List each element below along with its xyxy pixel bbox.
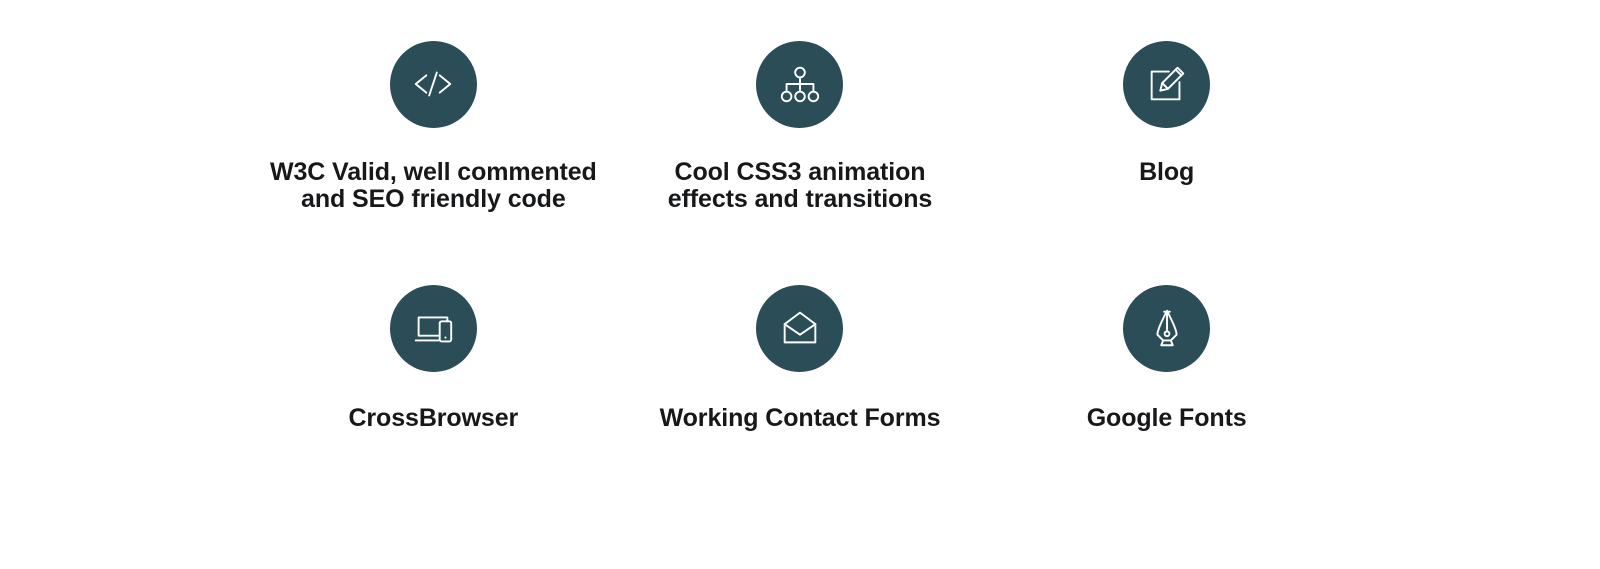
- responsive-devices-icon-badge[interactable]: [390, 285, 477, 372]
- edit-pencil-square-icon: [1144, 61, 1190, 107]
- feature-title: W3C Valid, well commented and SEO friend…: [268, 159, 598, 214]
- feature-card-blog[interactable]: Blog: [983, 41, 1350, 285]
- feature-card-crossbrowser[interactable]: CrossBrowser: [250, 285, 617, 529]
- feature-title: Google Fonts: [1087, 405, 1247, 433]
- feature-card-contact-forms[interactable]: Working Contact Forms: [617, 285, 984, 529]
- feature-card-w3c-valid[interactable]: W3C Valid, well commented and SEO friend…: [250, 41, 617, 285]
- feature-title: Cool CSS3 animation effects and transiti…: [635, 159, 965, 214]
- features-section: W3C Valid, well commented and SEO friend…: [0, 0, 1600, 569]
- feature-title: CrossBrowser: [348, 405, 518, 433]
- feature-card-css3-animation[interactable]: Cool CSS3 animation effects and transiti…: [617, 41, 984, 285]
- code-brackets-icon-badge[interactable]: [390, 41, 477, 128]
- open-envelope-icon-badge[interactable]: [756, 285, 843, 372]
- feature-title: Blog: [1139, 159, 1194, 187]
- feature-card-google-fonts[interactable]: Google Fonts: [983, 285, 1350, 529]
- features-grid: W3C Valid, well commented and SEO friend…: [250, 41, 1350, 529]
- responsive-devices-icon: [410, 305, 456, 351]
- code-brackets-icon: [410, 61, 456, 107]
- sitemap-hierarchy-icon-badge[interactable]: [756, 41, 843, 128]
- pen-nib-icon-badge[interactable]: [1123, 285, 1210, 372]
- open-envelope-icon: [777, 305, 823, 351]
- feature-title: Working Contact Forms: [660, 405, 941, 433]
- sitemap-hierarchy-icon: [777, 61, 823, 107]
- pen-nib-icon: [1144, 305, 1190, 351]
- edit-pencil-square-icon-badge[interactable]: [1123, 41, 1210, 128]
